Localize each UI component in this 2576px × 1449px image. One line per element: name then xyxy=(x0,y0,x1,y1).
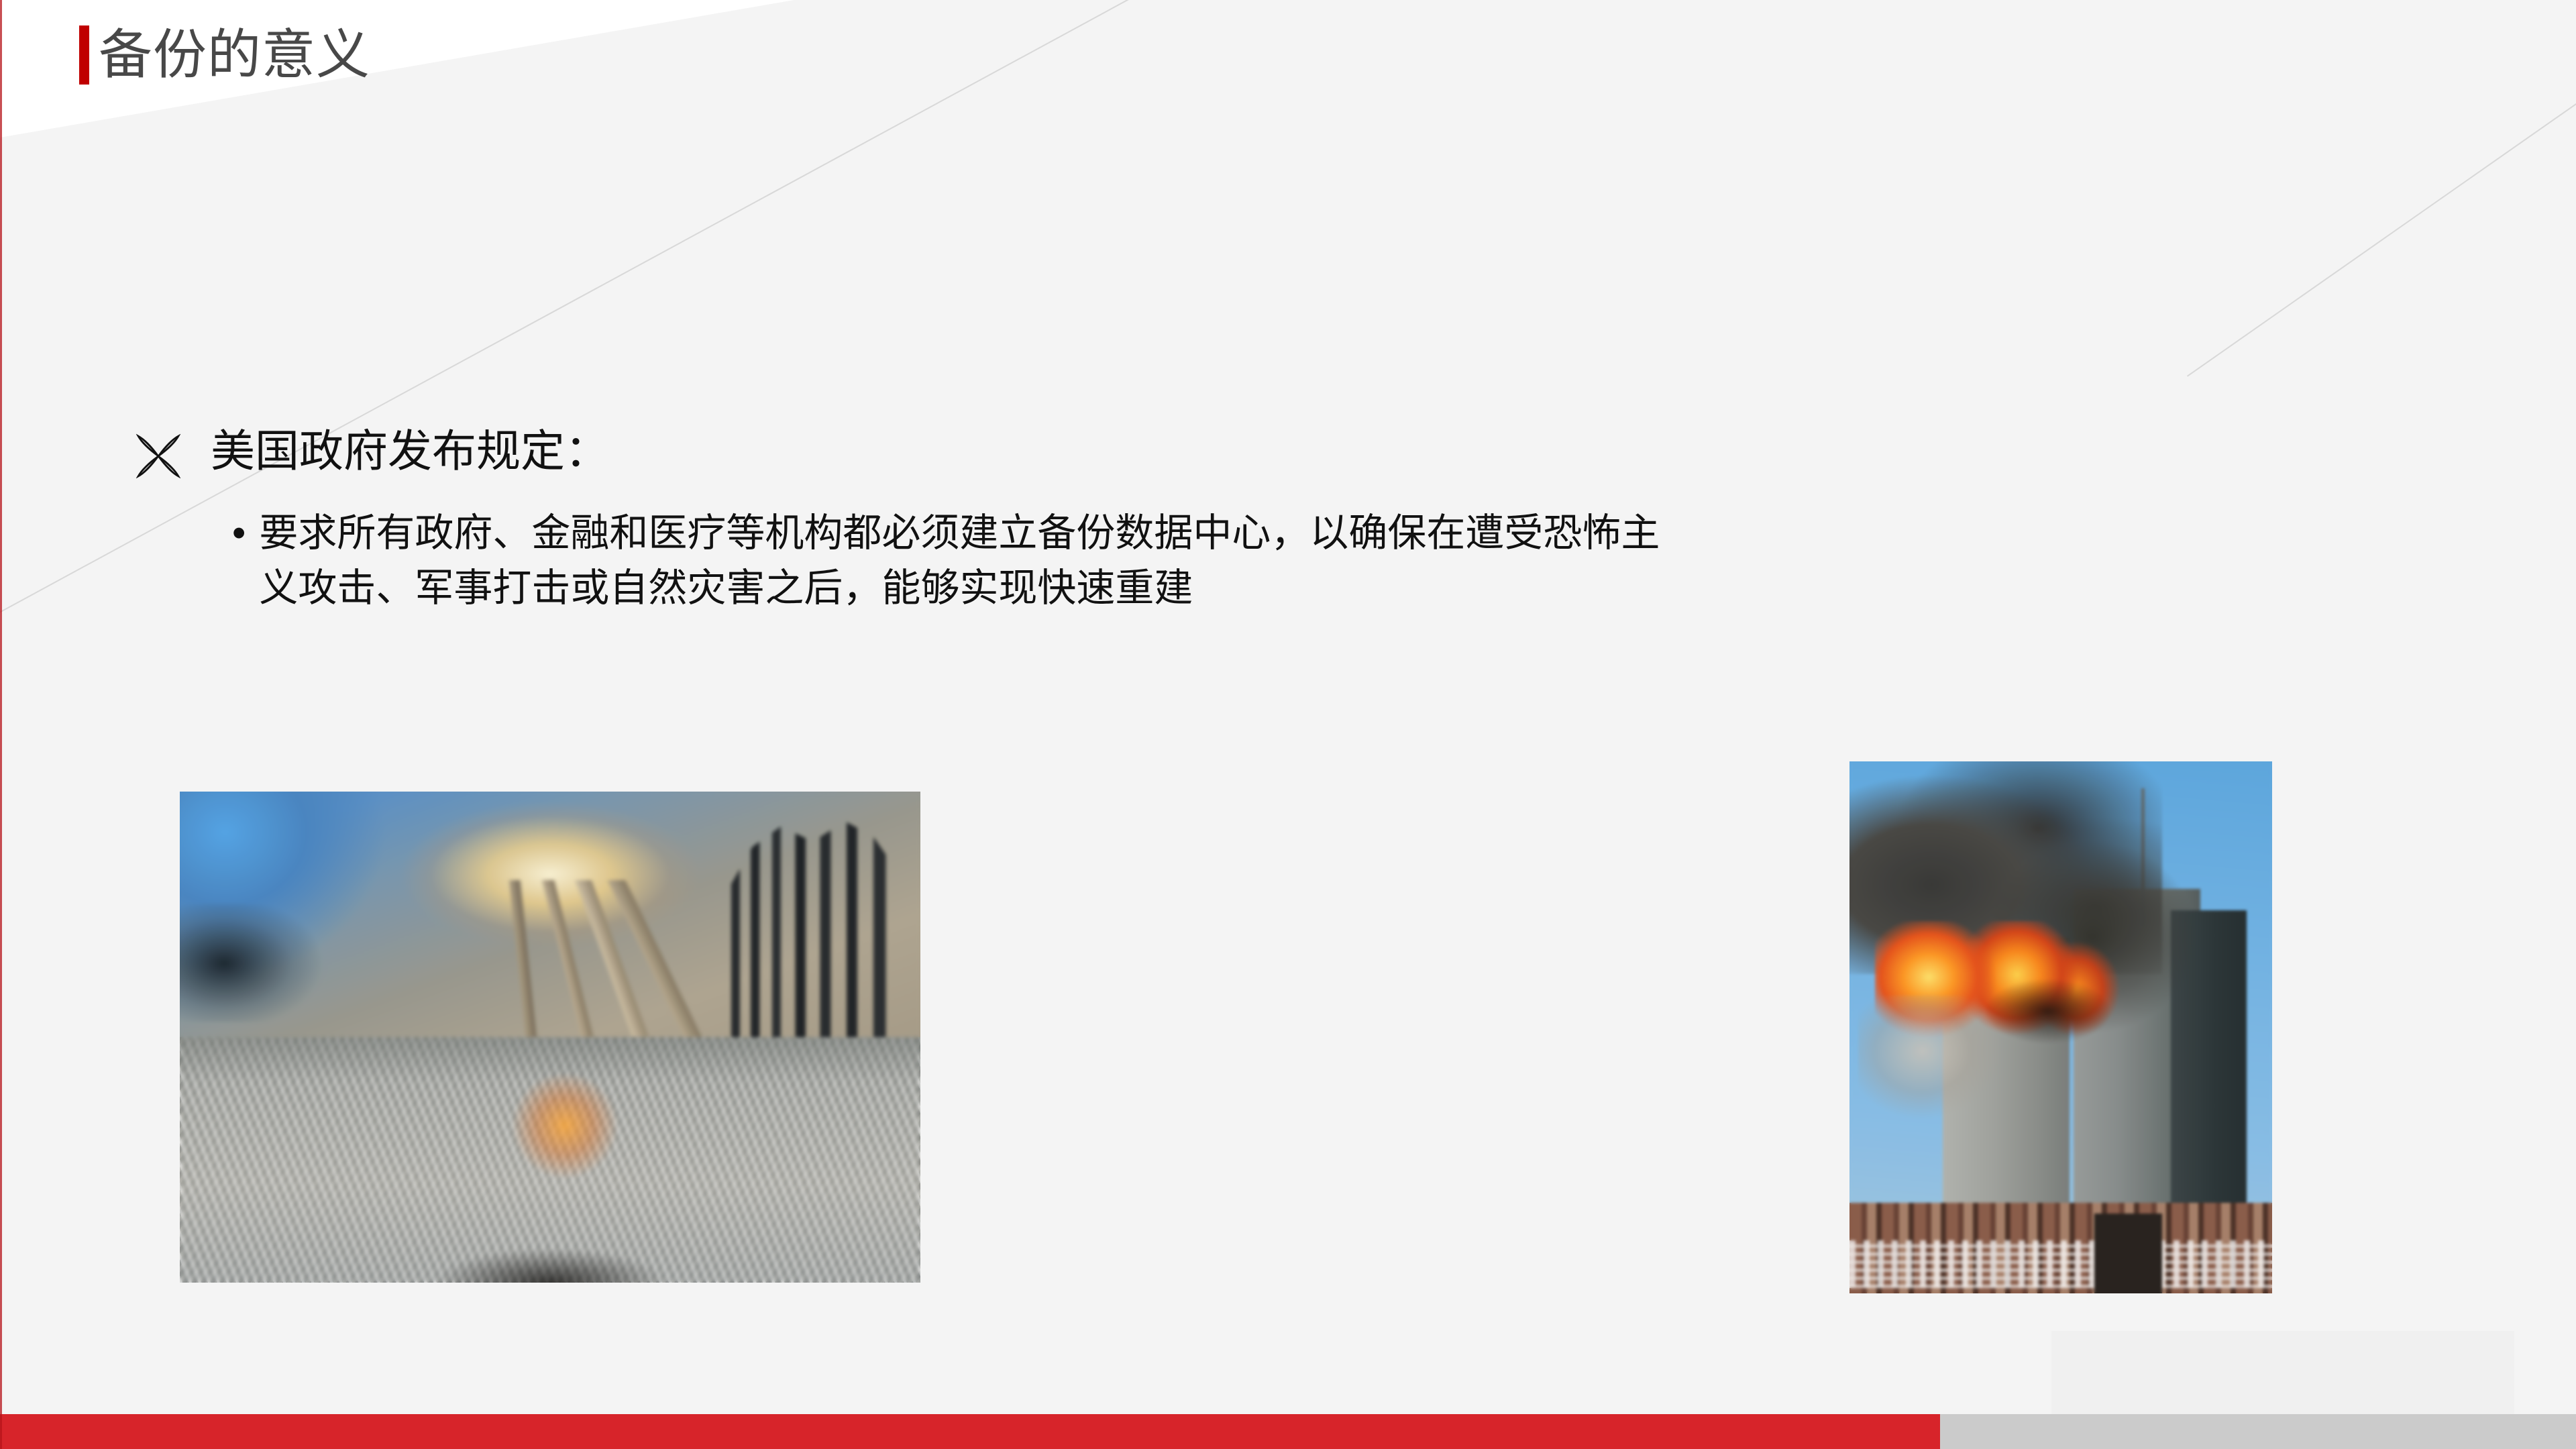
bullet-level2-line-2: 义攻击、军事打击或自然灾害之后，能够实现快速重建 xyxy=(259,561,1660,616)
title-accent-bar xyxy=(79,25,89,85)
page-title: 备份的意义 xyxy=(99,28,370,82)
slide-body: 美国政府发布规定： • 要求所有政府、金融和医疗等机构都必须建立备份数据中心，以… xyxy=(134,427,2428,616)
background-gray-panel xyxy=(2051,1331,2514,1419)
slide-title: 备份的意义 xyxy=(79,25,370,85)
left-edge-rule xyxy=(0,0,2,1449)
twin-towers-explosion-photo xyxy=(1849,761,2272,1293)
bullet-level2-glyph: • xyxy=(232,506,246,561)
bullet-level1-label: 美国政府发布规定： xyxy=(211,427,609,476)
bullet-level2: • 要求所有政府、金融和医疗等机构都必须建立备份数据中心，以确保在遭受恐怖主 义… xyxy=(232,506,2428,616)
rubble-blur-overlay xyxy=(180,792,920,1283)
bullet-level2-paragraph: 要求所有政府、金融和医疗等机构都必须建立备份数据中心，以确保在遭受恐怖主 义攻击… xyxy=(259,506,1660,616)
footer-bar-red xyxy=(0,1414,1940,1449)
ground-zero-rubble-photo xyxy=(180,792,920,1283)
four-petal-flower-icon xyxy=(134,432,182,480)
bullet-level1: 美国政府发布规定： xyxy=(134,427,2428,480)
slide-canvas: 备份的意义 美国政府发布规定： • 要求所有政府、金 xyxy=(0,0,2576,1449)
bullet-level2-line-1: 要求所有政府、金融和医疗等机构都必须建立备份数据中心，以确保在遭受恐怖主 xyxy=(259,506,1660,561)
towers-blur-overlay xyxy=(1849,761,2272,1293)
